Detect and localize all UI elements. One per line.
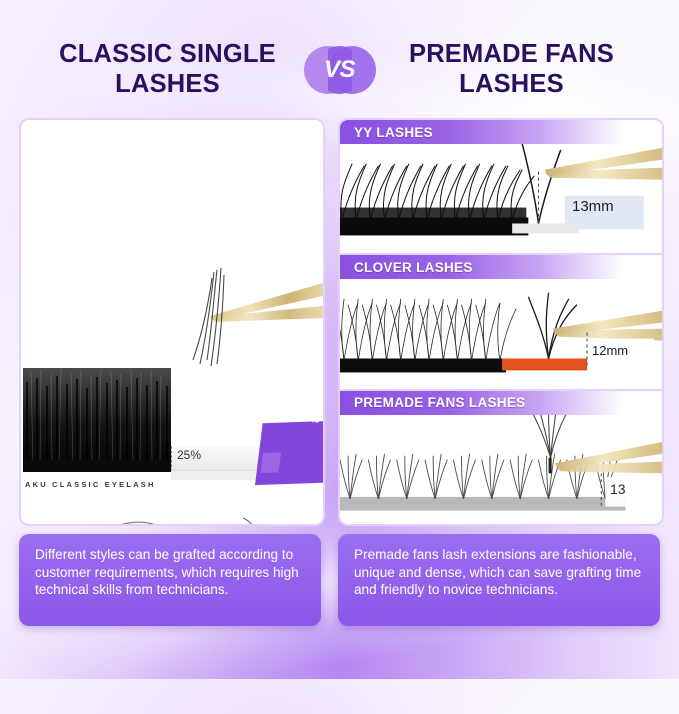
- premade-fans-panel: YY LASHES 13mm: [338, 118, 664, 526]
- clover-single-fan: [528, 293, 577, 359]
- left-caption: Different styles can be grafted accordin…: [19, 534, 321, 626]
- yy-measure-label: 13mm: [572, 198, 614, 215]
- section-clover-lashes: CLOVER LASHES 12mm: [340, 255, 662, 390]
- yy-lashes-title: YY LASHES: [354, 125, 433, 140]
- right-caption: Premade fans lash extensions are fashion…: [338, 534, 660, 626]
- gold-tweezers-icon: [553, 311, 662, 341]
- vs-label: VS: [304, 42, 376, 98]
- sample-tag-text: mple: [307, 388, 325, 423]
- right-title: PREMADE FANS LASHES: [378, 40, 646, 99]
- section-premade-fans-lashes: PREMADE FANS LASHES 13: [340, 391, 662, 524]
- clover-lashes-title: CLOVER LASHES: [354, 260, 473, 275]
- premade-fans-title: PREMADE FANS LASHES: [354, 395, 525, 410]
- clover-orange-strip: [502, 359, 587, 371]
- yy-lashes-header: YY LASHES: [340, 120, 662, 144]
- premade-measure-label: 13: [610, 481, 626, 497]
- left-title: CLASSIC SINGLE LASHES: [34, 40, 302, 99]
- yy-fan-row: [340, 164, 534, 236]
- premade-fans-header: PREMADE FANS LASHES: [340, 391, 662, 415]
- sample-tag: mple: [255, 421, 325, 485]
- sample-tag-chip: [261, 452, 282, 473]
- gold-tweezers-icon: [555, 442, 662, 473]
- lash-strip-label: AKU CLASSIC EYELASH: [25, 480, 156, 489]
- section-yy-lashes: YY LASHES 13mm: [340, 120, 662, 255]
- vs-badge: VS: [304, 42, 376, 98]
- clover-measure-label: 12mm: [592, 343, 628, 358]
- single-lash-curves: [27, 518, 323, 524]
- classic-lashes-panel: AKU CLASSIC EYELASH 25% mple: [19, 118, 325, 526]
- gold-tweezers-icon: [210, 283, 323, 322]
- lash-strip-block: AKU CLASSIC EYELASH: [23, 366, 171, 476]
- clover-fan-row: [340, 299, 516, 373]
- percent-label: 25%: [177, 448, 201, 462]
- header: CLASSIC SINGLE LASHES VS PREMADE FANS LA…: [0, 30, 679, 110]
- premade-tray-strip: [340, 497, 626, 511]
- gold-tweezers-icon: [545, 148, 662, 180]
- clover-lashes-header: CLOVER LASHES: [340, 255, 662, 279]
